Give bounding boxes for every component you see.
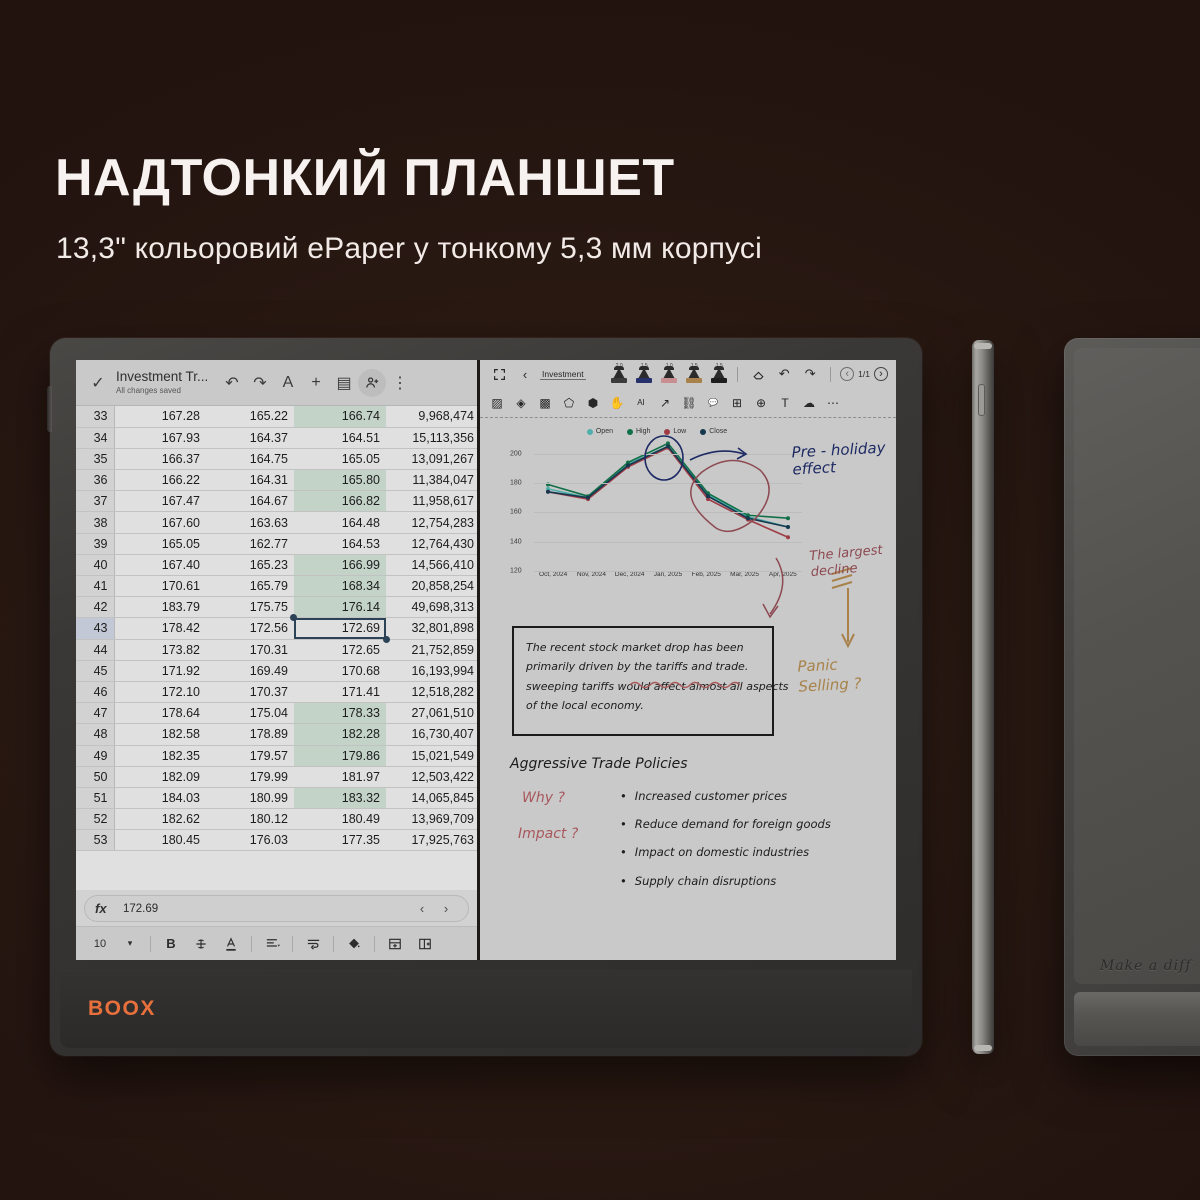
formula-value[interactable]: 172.69 <box>123 903 410 915</box>
cell-volume[interactable]: 15,113,356 <box>386 427 477 448</box>
tablet-device-back: Make a diff <box>1064 338 1200 1056</box>
pen-dark-icon[interactable]: 1.5 <box>710 364 728 384</box>
list-item: Increased customer prices <box>620 782 831 810</box>
gridline <box>534 512 802 513</box>
document-title: Investment Tr... <box>116 370 212 385</box>
row-header[interactable]: 50 <box>76 766 114 787</box>
page-indicator: 1/1 <box>858 369 870 379</box>
cell-low[interactable]: 165.23 <box>206 554 294 575</box>
function-icon: fx <box>95 901 117 916</box>
chart-lines <box>534 439 802 571</box>
link-icon[interactable]: ⛓ <box>678 392 700 414</box>
fullscreen-icon[interactable] <box>488 363 510 385</box>
spreadsheet-rows: 33167.28165.22166.749,968,47434167.93164… <box>76 406 477 851</box>
bold-button[interactable]: B <box>157 932 185 956</box>
annotation-largest-decline: The largest decline <box>809 543 885 580</box>
tablet-side-profile <box>972 340 994 1054</box>
cell-volume[interactable]: 27,061,510 <box>386 703 477 724</box>
cell-low[interactable]: 163.63 <box>206 512 294 533</box>
cell-volume[interactable]: 13,969,709 <box>386 809 477 830</box>
toolbar-divider <box>150 936 151 952</box>
formula-next-icon[interactable]: › <box>434 901 458 916</box>
table-row[interactable]: 43178.42172.56172.6932,801,898 <box>76 618 477 639</box>
chart-x-axis: Oct, 2024Nov, 2024Dec, 2024Jan, 2025Feb,… <box>534 571 802 578</box>
power-button[interactable] <box>47 386 52 432</box>
tablet-device-front: ✓ Investment Tr... All changes saved ↶ ↷… <box>50 338 922 1056</box>
tablet-screen: ✓ Investment Tr... All changes saved ↶ ↷… <box>76 360 896 960</box>
cell-open[interactable]: 167.60 <box>114 512 206 533</box>
cell-close[interactable]: 182.28 <box>294 724 386 745</box>
list-item: Reduce demand for foreign goods <box>620 810 831 838</box>
note-line: The recent stock market drop has been <box>526 638 760 657</box>
cell-open[interactable]: 173.82 <box>114 639 206 660</box>
x-axis-tick: Oct, 2024 <box>534 571 572 578</box>
cell-low[interactable]: 164.31 <box>206 470 294 491</box>
cell-volume[interactable]: 14,566,410 <box>386 554 477 575</box>
chart-legend: OpenHighLowClose <box>512 428 802 435</box>
cell-low[interactable]: 164.67 <box>206 491 294 512</box>
table-row[interactable]: 34167.93164.37164.5115,113,356 <box>76 427 477 448</box>
cell-open[interactable]: 180.45 <box>114 830 206 851</box>
cell-low[interactable]: 172.56 <box>206 618 294 639</box>
x-axis-tick: Feb, 2025 <box>687 571 725 578</box>
redo-icon[interactable]: ↷ <box>246 369 274 397</box>
legend-item: Open <box>587 428 613 435</box>
strikethrough-button[interactable] <box>187 932 215 956</box>
cell-open[interactable]: 178.64 <box>114 703 206 724</box>
row-header[interactable]: 52 <box>76 809 114 830</box>
page-title: НАДТОНКИЙ ПЛАНШЕТ <box>55 148 675 208</box>
format-toolbar: 10 ▾ B <box>76 926 477 960</box>
cell-close[interactable]: 171.41 <box>294 681 386 702</box>
x-axis-tick: Nov, 2024 <box>572 571 610 578</box>
bullet-list: Increased customer pricesReduce demand f… <box>620 782 831 895</box>
list-item: Impact on domestic industries <box>620 838 831 866</box>
chart-data-point <box>786 525 790 529</box>
chart-data-point <box>786 535 790 539</box>
list-item: Supply chain disruptions <box>620 867 831 895</box>
table-row[interactable]: 36166.22164.31165.8011,384,047 <box>76 470 477 491</box>
legend-label: High <box>636 428 650 435</box>
chart-data-point <box>786 516 790 520</box>
cell-open[interactable]: 183.79 <box>114 597 206 618</box>
cell-low[interactable]: 179.57 <box>206 745 294 766</box>
row-header[interactable]: 46 <box>76 681 114 702</box>
back-icon[interactable]: ‹ <box>514 363 536 385</box>
legend-item: High <box>627 428 650 435</box>
cell-open[interactable]: 178.42 <box>114 618 206 639</box>
cell-close[interactable]: 181.97 <box>294 766 386 787</box>
cell-low[interactable]: 180.12 <box>206 809 294 830</box>
spreadsheet-grid-scroll[interactable]: 33167.28165.22166.749,968,47434167.93164… <box>76 406 477 890</box>
cell-open[interactable]: 171.92 <box>114 660 206 681</box>
legend-label: Low <box>673 428 686 435</box>
chart-plot-area: 120140160180200 <box>534 439 802 571</box>
row-header[interactable]: 38 <box>76 512 114 533</box>
page-prev-icon[interactable]: ‹ <box>840 367 854 381</box>
table-row[interactable]: 53180.45176.03177.3517,925,763 <box>76 830 477 851</box>
chart-data-point <box>586 496 590 500</box>
cloud-icon[interactable]: ☁ <box>798 392 820 414</box>
layers-icon[interactable]: ◈ <box>510 392 532 414</box>
note-redo-icon[interactable]: ↷ <box>799 363 821 385</box>
x-axis-tick: Apr, 2025 <box>764 571 802 578</box>
cell-volume[interactable]: 12,764,430 <box>386 533 477 554</box>
legend-swatch <box>627 429 633 435</box>
cell-close[interactable]: 170.68 <box>294 660 386 681</box>
table-row[interactable]: 35166.37164.75165.0513,091,267 <box>76 448 477 469</box>
row-header[interactable]: 49 <box>76 745 114 766</box>
note-divider-2 <box>830 367 831 382</box>
table-row[interactable]: 37167.47164.67166.8211,958,617 <box>76 491 477 512</box>
side-bottom-cap <box>974 1045 992 1051</box>
formula-bar[interactable]: fx 172.69 ‹ › <box>84 895 469 922</box>
cell-volume[interactable]: 16,193,994 <box>386 660 477 681</box>
legend-label: Close <box>709 428 727 435</box>
gridline <box>534 542 802 543</box>
more-icon[interactable]: ⋯ <box>822 392 844 414</box>
text-icon[interactable]: T <box>774 392 796 414</box>
cell-volume[interactable]: 14,065,845 <box>386 787 477 808</box>
comment-icon[interactable]: ▤ <box>330 369 358 397</box>
table-row[interactable]: 48182.58178.89182.2816,730,407 <box>76 724 477 745</box>
cell-open[interactable]: 182.09 <box>114 766 206 787</box>
row-header[interactable]: 36 <box>76 470 114 491</box>
table-row[interactable]: 47178.64175.04178.3327,061,510 <box>76 703 477 724</box>
cell-low[interactable]: 178.89 <box>206 724 294 745</box>
font-size-value[interactable]: 10 <box>86 932 114 956</box>
note-divider-1 <box>737 367 738 382</box>
cell-low[interactable]: 179.99 <box>206 766 294 787</box>
table-row[interactable]: 38167.60163.63164.4812,754,283 <box>76 512 477 533</box>
shape-icon[interactable]: ⬠ <box>558 392 580 414</box>
legend-item: Low <box>664 428 686 435</box>
annotation-panic-selling: Panic Selling ? <box>797 654 862 696</box>
note-undo-icon[interactable]: ↶ <box>773 363 795 385</box>
pen-tan-icon[interactable]: 1.5 <box>685 364 703 384</box>
row-header[interactable]: 47 <box>76 703 114 724</box>
document-title-block[interactable]: Investment Tr... All changes saved <box>116 370 212 396</box>
y-axis-tick: 180 <box>510 480 522 487</box>
x-axis-tick: Jan, 2025 <box>649 571 687 578</box>
cell-volume[interactable]: 32,801,898 <box>386 618 477 639</box>
more-options-icon[interactable]: ⋮ <box>386 369 414 397</box>
cell-close[interactable]: 180.49 <box>294 809 386 830</box>
table-row[interactable]: 42183.79175.75176.1449,698,313 <box>76 597 477 618</box>
legend-item: Close <box>700 428 727 435</box>
note-tools-toolbar: ▨◈▩⬠⬢✋AI↗⛓💬⊞⊕T☁⋯ <box>480 388 896 418</box>
side-top-cap <box>974 343 992 349</box>
gridline <box>534 571 802 572</box>
note-line: primarily driven by the tariffs and trad… <box>526 657 760 676</box>
cell-low[interactable]: 165.79 <box>206 576 294 597</box>
table-row[interactable]: 44173.82170.31172.6521,752,859 <box>76 639 477 660</box>
table-row[interactable]: 49182.35179.57179.8615,021,549 <box>76 745 477 766</box>
shape-fill-icon[interactable]: ▨ <box>486 392 508 414</box>
cell-close[interactable]: 164.48 <box>294 512 386 533</box>
gridline <box>534 454 802 455</box>
cell-close[interactable]: 183.32 <box>294 787 386 808</box>
legend-swatch <box>700 429 706 435</box>
tablet-back-panel <box>1074 348 1200 984</box>
cell-volume[interactable]: 49,698,313 <box>386 597 477 618</box>
cell-open[interactable]: 167.47 <box>114 491 206 512</box>
page-subtitle: 13,3" кольоровий ePaper у тонкому 5,3 мм… <box>56 232 762 266</box>
side-power-button <box>978 384 985 416</box>
cell-low[interactable]: 162.77 <box>206 533 294 554</box>
table-row[interactable]: 40167.40165.23166.9914,566,410 <box>76 554 477 575</box>
text-color-button[interactable] <box>217 932 245 956</box>
save-status: All changes saved <box>116 386 212 395</box>
row-header[interactable]: 43 <box>76 618 114 639</box>
y-axis-tick: 120 <box>510 568 522 575</box>
row-header[interactable]: 37 <box>76 491 114 512</box>
toolbar-divider-5 <box>374 936 375 952</box>
cell-volume[interactable]: 20,858,254 <box>386 576 477 597</box>
legend-swatch <box>587 429 593 435</box>
cell-open[interactable]: 182.35 <box>114 745 206 766</box>
cell-low[interactable]: 164.37 <box>206 427 294 448</box>
cell-low[interactable]: 175.04 <box>206 703 294 724</box>
row-header[interactable]: 45 <box>76 660 114 681</box>
table-row[interactable]: 50182.09179.99181.9712,503,422 <box>76 766 477 787</box>
row-header[interactable]: 34 <box>76 427 114 448</box>
row-header[interactable]: 33 <box>76 406 114 427</box>
row-header[interactable]: 35 <box>76 448 114 469</box>
cell-low[interactable]: 164.75 <box>206 448 294 469</box>
cell-volume[interactable]: 13,091,267 <box>386 448 477 469</box>
section-title: Aggressive Trade Policies <box>510 756 688 772</box>
back-engraving: Make a diff <box>1100 958 1192 974</box>
pattern-icon[interactable]: ▩ <box>534 392 556 414</box>
cell-close[interactable]: 166.74 <box>294 406 386 427</box>
row-header[interactable]: 42 <box>76 597 114 618</box>
insert-icon[interactable]: ⊞ <box>726 392 748 414</box>
pen-navy-icon[interactable]: 1.5 <box>635 364 653 384</box>
cell-close[interactable]: 176.14 <box>294 597 386 618</box>
squiggle-underline <box>630 680 750 690</box>
note-canvas[interactable]: OpenHighLowClose 120140160180200 Oct, 20… <box>480 418 896 960</box>
cell-volume[interactable]: 9,968,474 <box>386 406 477 427</box>
cell-low[interactable]: 180.99 <box>206 787 294 808</box>
cell-open[interactable]: 184.03 <box>114 787 206 808</box>
cell-low[interactable]: 175.75 <box>206 597 294 618</box>
y-axis-tick: 200 <box>510 450 522 457</box>
cell-low[interactable]: 169.49 <box>206 660 294 681</box>
table-row[interactable]: 39165.05162.77164.5312,764,430 <box>76 533 477 554</box>
spreadsheet-grid: 33167.28165.22166.749,968,47434167.93164… <box>76 406 477 851</box>
cell-low[interactable]: 170.37 <box>206 681 294 702</box>
toolbar-divider-4 <box>333 936 334 952</box>
chart-data-point <box>546 490 550 494</box>
bucket-icon[interactable]: ⬢ <box>582 392 604 414</box>
cell-open[interactable]: 167.40 <box>114 554 206 575</box>
tablet-bottom-bezel: BOOX <box>60 970 912 1048</box>
insert-column-button[interactable] <box>411 932 439 956</box>
cell-volume[interactable]: 15,021,549 <box>386 745 477 766</box>
cell-volume[interactable]: 11,384,047 <box>386 470 477 491</box>
chart-data-point <box>706 494 710 498</box>
cell-volume[interactable]: 16,730,407 <box>386 724 477 745</box>
eraser-icon[interactable] <box>747 363 769 385</box>
pen-pink-icon[interactable]: 1.0 <box>660 364 678 384</box>
cell-open[interactable]: 165.05 <box>114 533 206 554</box>
hand-icon[interactable]: ✋ <box>606 392 628 414</box>
row-header[interactable]: 51 <box>76 787 114 808</box>
x-axis-tick: Dec, 2024 <box>611 571 649 578</box>
question-why: Why ? <box>522 790 565 806</box>
page-next-icon[interactable]: › <box>874 367 888 381</box>
cell-open[interactable]: 166.37 <box>114 448 206 469</box>
tablet-back-strip <box>1074 992 1200 1046</box>
cell-close[interactable]: 172.65 <box>294 639 386 660</box>
spreadsheet-toolbar: ✓ Investment Tr... All changes saved ↶ ↷… <box>76 360 477 406</box>
cell-open[interactable]: 172.10 <box>114 681 206 702</box>
cell-open[interactable]: 182.62 <box>114 809 206 830</box>
table-row[interactable]: 33167.28165.22166.749,968,474 <box>76 406 477 427</box>
pen-black-icon[interactable]: 2.0 <box>610 364 628 384</box>
note-top-toolbar: ‹ Investment 2.01.51.01.51.5 ↶ ↷ ‹ 1/1 › <box>480 360 896 388</box>
y-axis-tick: 140 <box>510 538 522 545</box>
cell-close[interactable]: 164.51 <box>294 427 386 448</box>
cell-close[interactable]: 168.34 <box>294 576 386 597</box>
chart-data-point <box>666 444 670 448</box>
add-icon[interactable]: + <box>302 369 330 397</box>
note-document-name[interactable]: Investment <box>540 369 586 380</box>
cell-close[interactable]: 179.86 <box>294 745 386 766</box>
row-header[interactable]: 40 <box>76 554 114 575</box>
table-row[interactable]: 52182.62180.12180.4913,969,709 <box>76 809 477 830</box>
stock-chart: OpenHighLowClose 120140160180200 Oct, 20… <box>512 428 802 588</box>
row-header[interactable]: 53 <box>76 830 114 851</box>
x-axis-tick: Mar, 2025 <box>725 571 763 578</box>
cell-close[interactable]: 164.53 <box>294 533 386 554</box>
gridline <box>534 483 802 484</box>
question-impact: Impact ? <box>518 826 578 842</box>
cell-close[interactable]: 165.05 <box>294 448 386 469</box>
table-row[interactable]: 41170.61165.79168.3420,858,254 <box>76 576 477 597</box>
cell-volume[interactable]: 12,754,283 <box>386 512 477 533</box>
legend-swatch <box>664 429 670 435</box>
export-icon[interactable]: ↗ <box>654 392 676 414</box>
boox-logo: BOOX <box>88 997 156 1021</box>
cell-volume[interactable]: 21,752,859 <box>386 639 477 660</box>
cell-open[interactable]: 182.58 <box>114 724 206 745</box>
toolbar-divider-2 <box>251 936 252 952</box>
chart-data-point <box>746 516 750 520</box>
cell-volume[interactable]: 17,925,763 <box>386 830 477 851</box>
cell-low[interactable]: 170.31 <box>206 639 294 660</box>
formula-prev-icon[interactable]: ‹ <box>410 901 434 916</box>
chart-data-point <box>626 463 630 467</box>
row-header[interactable]: 41 <box>76 576 114 597</box>
share-icon[interactable] <box>358 369 386 397</box>
table-row[interactable]: 51184.03180.99183.3214,065,845 <box>76 787 477 808</box>
undo-icon[interactable]: ↶ <box>218 369 246 397</box>
fill-color-button[interactable] <box>340 932 368 956</box>
row-header[interactable]: 39 <box>76 533 114 554</box>
ai-icon[interactable]: AI <box>630 392 652 414</box>
chart-series-line <box>548 448 788 537</box>
row-header[interactable]: 48 <box>76 724 114 745</box>
legend-label: Open <box>596 428 613 435</box>
annotation-pre-holiday: Pre - holiday effect <box>791 440 887 479</box>
font-size-dropdown-icon[interactable]: ▾ <box>116 932 144 956</box>
cell-close[interactable]: 178.33 <box>294 703 386 724</box>
cell-close[interactable]: 172.69 <box>294 618 386 639</box>
cell-volume[interactable]: 11,958,617 <box>386 491 477 512</box>
save-check-icon[interactable]: ✓ <box>84 369 112 397</box>
cell-close[interactable]: 166.99 <box>294 554 386 575</box>
note-line: of the local economy. <box>526 696 760 715</box>
cell-open[interactable]: 167.93 <box>114 427 206 448</box>
cell-volume[interactable]: 12,518,282 <box>386 681 477 702</box>
cell-open[interactable]: 166.22 <box>114 470 206 491</box>
toolbar-divider-3 <box>292 936 293 952</box>
wrap-text-button[interactable] <box>299 932 327 956</box>
insert-row-button[interactable] <box>381 932 409 956</box>
spreadsheet-pane: ✓ Investment Tr... All changes saved ↶ ↷… <box>76 360 480 960</box>
cell-volume[interactable]: 12,503,422 <box>386 766 477 787</box>
speech-icon[interactable]: 💬 <box>702 392 724 414</box>
pen-palette: 2.01.51.01.51.5 <box>610 364 728 384</box>
row-header[interactable]: 44 <box>76 639 114 660</box>
cell-open[interactable]: 170.61 <box>114 576 206 597</box>
cell-low[interactable]: 176.03 <box>206 830 294 851</box>
cell-open[interactable]: 167.28 <box>114 406 206 427</box>
cell-close[interactable]: 166.82 <box>294 491 386 512</box>
note-pane: ‹ Investment 2.01.51.01.51.5 ↶ ↷ ‹ 1/1 ›… <box>480 360 896 960</box>
zoom-icon[interactable]: ⊕ <box>750 392 772 414</box>
cell-low[interactable]: 165.22 <box>206 406 294 427</box>
align-button[interactable] <box>258 932 286 956</box>
cell-close[interactable]: 177.35 <box>294 830 386 851</box>
cell-close[interactable]: 165.80 <box>294 470 386 491</box>
table-row[interactable]: 45171.92169.49170.6816,193,994 <box>76 660 477 681</box>
y-axis-tick: 160 <box>510 509 522 516</box>
text-format-icon[interactable]: A <box>274 369 302 397</box>
table-row[interactable]: 46172.10170.37171.4112,518,282 <box>76 681 477 702</box>
